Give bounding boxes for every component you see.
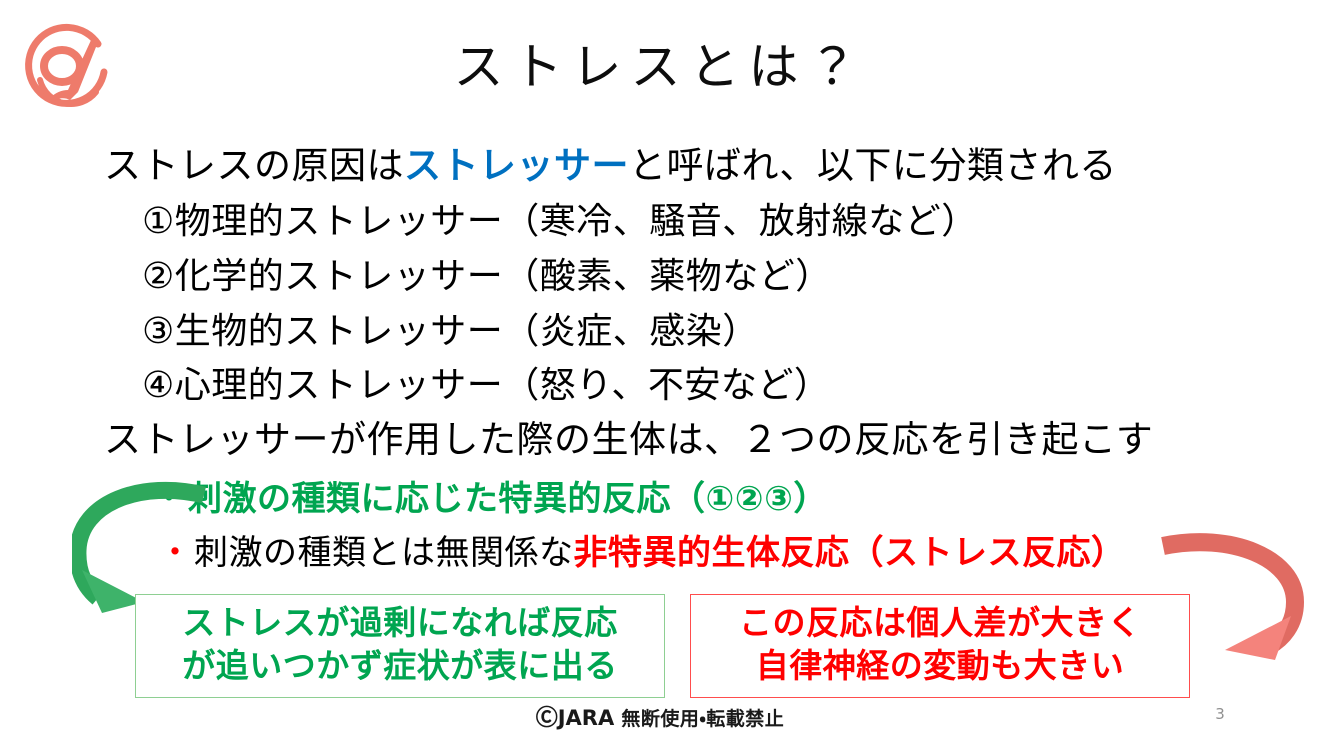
stressor-item-3: ③生物的ストレッサー（炎症、感染） — [142, 310, 759, 354]
slide-canvas: ストレスとは？ ストレスの原因はストレッサーと呼ばれ、以下に分類される ①物理的… — [0, 0, 1320, 740]
callout-red: この反応は個人差が大きく 自律神経の変動も大きい — [690, 594, 1190, 698]
stressor-item-1: ①物理的ストレッサー（寒冷、騒音、放射線など） — [142, 200, 978, 244]
footer-org: JARA — [558, 706, 615, 730]
intro-pre: ストレスの原因は — [104, 144, 404, 187]
callout-green-line-2: が追いつかず症状が表に出る — [136, 644, 664, 687]
reaction-bullet-specific: ・ 刺激の種類に応じた特異的反応（①②③） — [152, 478, 828, 520]
intro-emphasis-stressor: ストレッサー — [404, 144, 629, 187]
callout-green-line-1: ストレスが過剰になれば反応 — [136, 601, 664, 644]
callout-green: ストレスが過剰になれば反応 が追いつかず症状が表に出る — [135, 594, 665, 698]
page-title: ストレスとは？ — [0, 38, 1320, 96]
reaction-bullet-nonspecific: ・ 刺激の種類とは無関係な非特異的生体反応（ストレス反応） — [158, 532, 1126, 574]
callout-red-line-1: この反応は個人差が大きく — [691, 601, 1189, 644]
footer-copyright: ⒸJARA 無断使用・転載禁止 — [0, 705, 1320, 732]
reaction-bullet-specific-text: 刺激の種類に応じた特異的反応（①②③） — [188, 478, 828, 520]
reaction-bullet-nonspecific-text: 刺激の種類とは無関係な — [194, 532, 574, 574]
page-number: 3 — [1205, 704, 1235, 724]
green-curved-arrow-icon — [72, 478, 212, 613]
intro-line: ストレスの原因はストレッサーと呼ばれ、以下に分類される — [104, 144, 1117, 188]
intro-post: と呼ばれ、以下に分類される — [629, 144, 1117, 187]
reactions-lead-line: ストレッサーが作用した際の生体は、２つの反応を引き起こす — [104, 418, 1153, 462]
stressor-item-4: ④心理的ストレッサー（怒り、不安など） — [142, 364, 830, 408]
copyright-mark: Ⓒ — [536, 706, 558, 731]
callout-red-line-2: 自律神経の変動も大きい — [691, 644, 1189, 687]
stressor-item-2: ②化学的ストレッサー（酸素、薬物など） — [142, 255, 832, 299]
reaction-bullet-nonspecific-emphasis: 非特異的生体反応（ストレス反応） — [574, 532, 1126, 574]
footer-notice: 無断使用・転載禁止 — [614, 708, 784, 730]
